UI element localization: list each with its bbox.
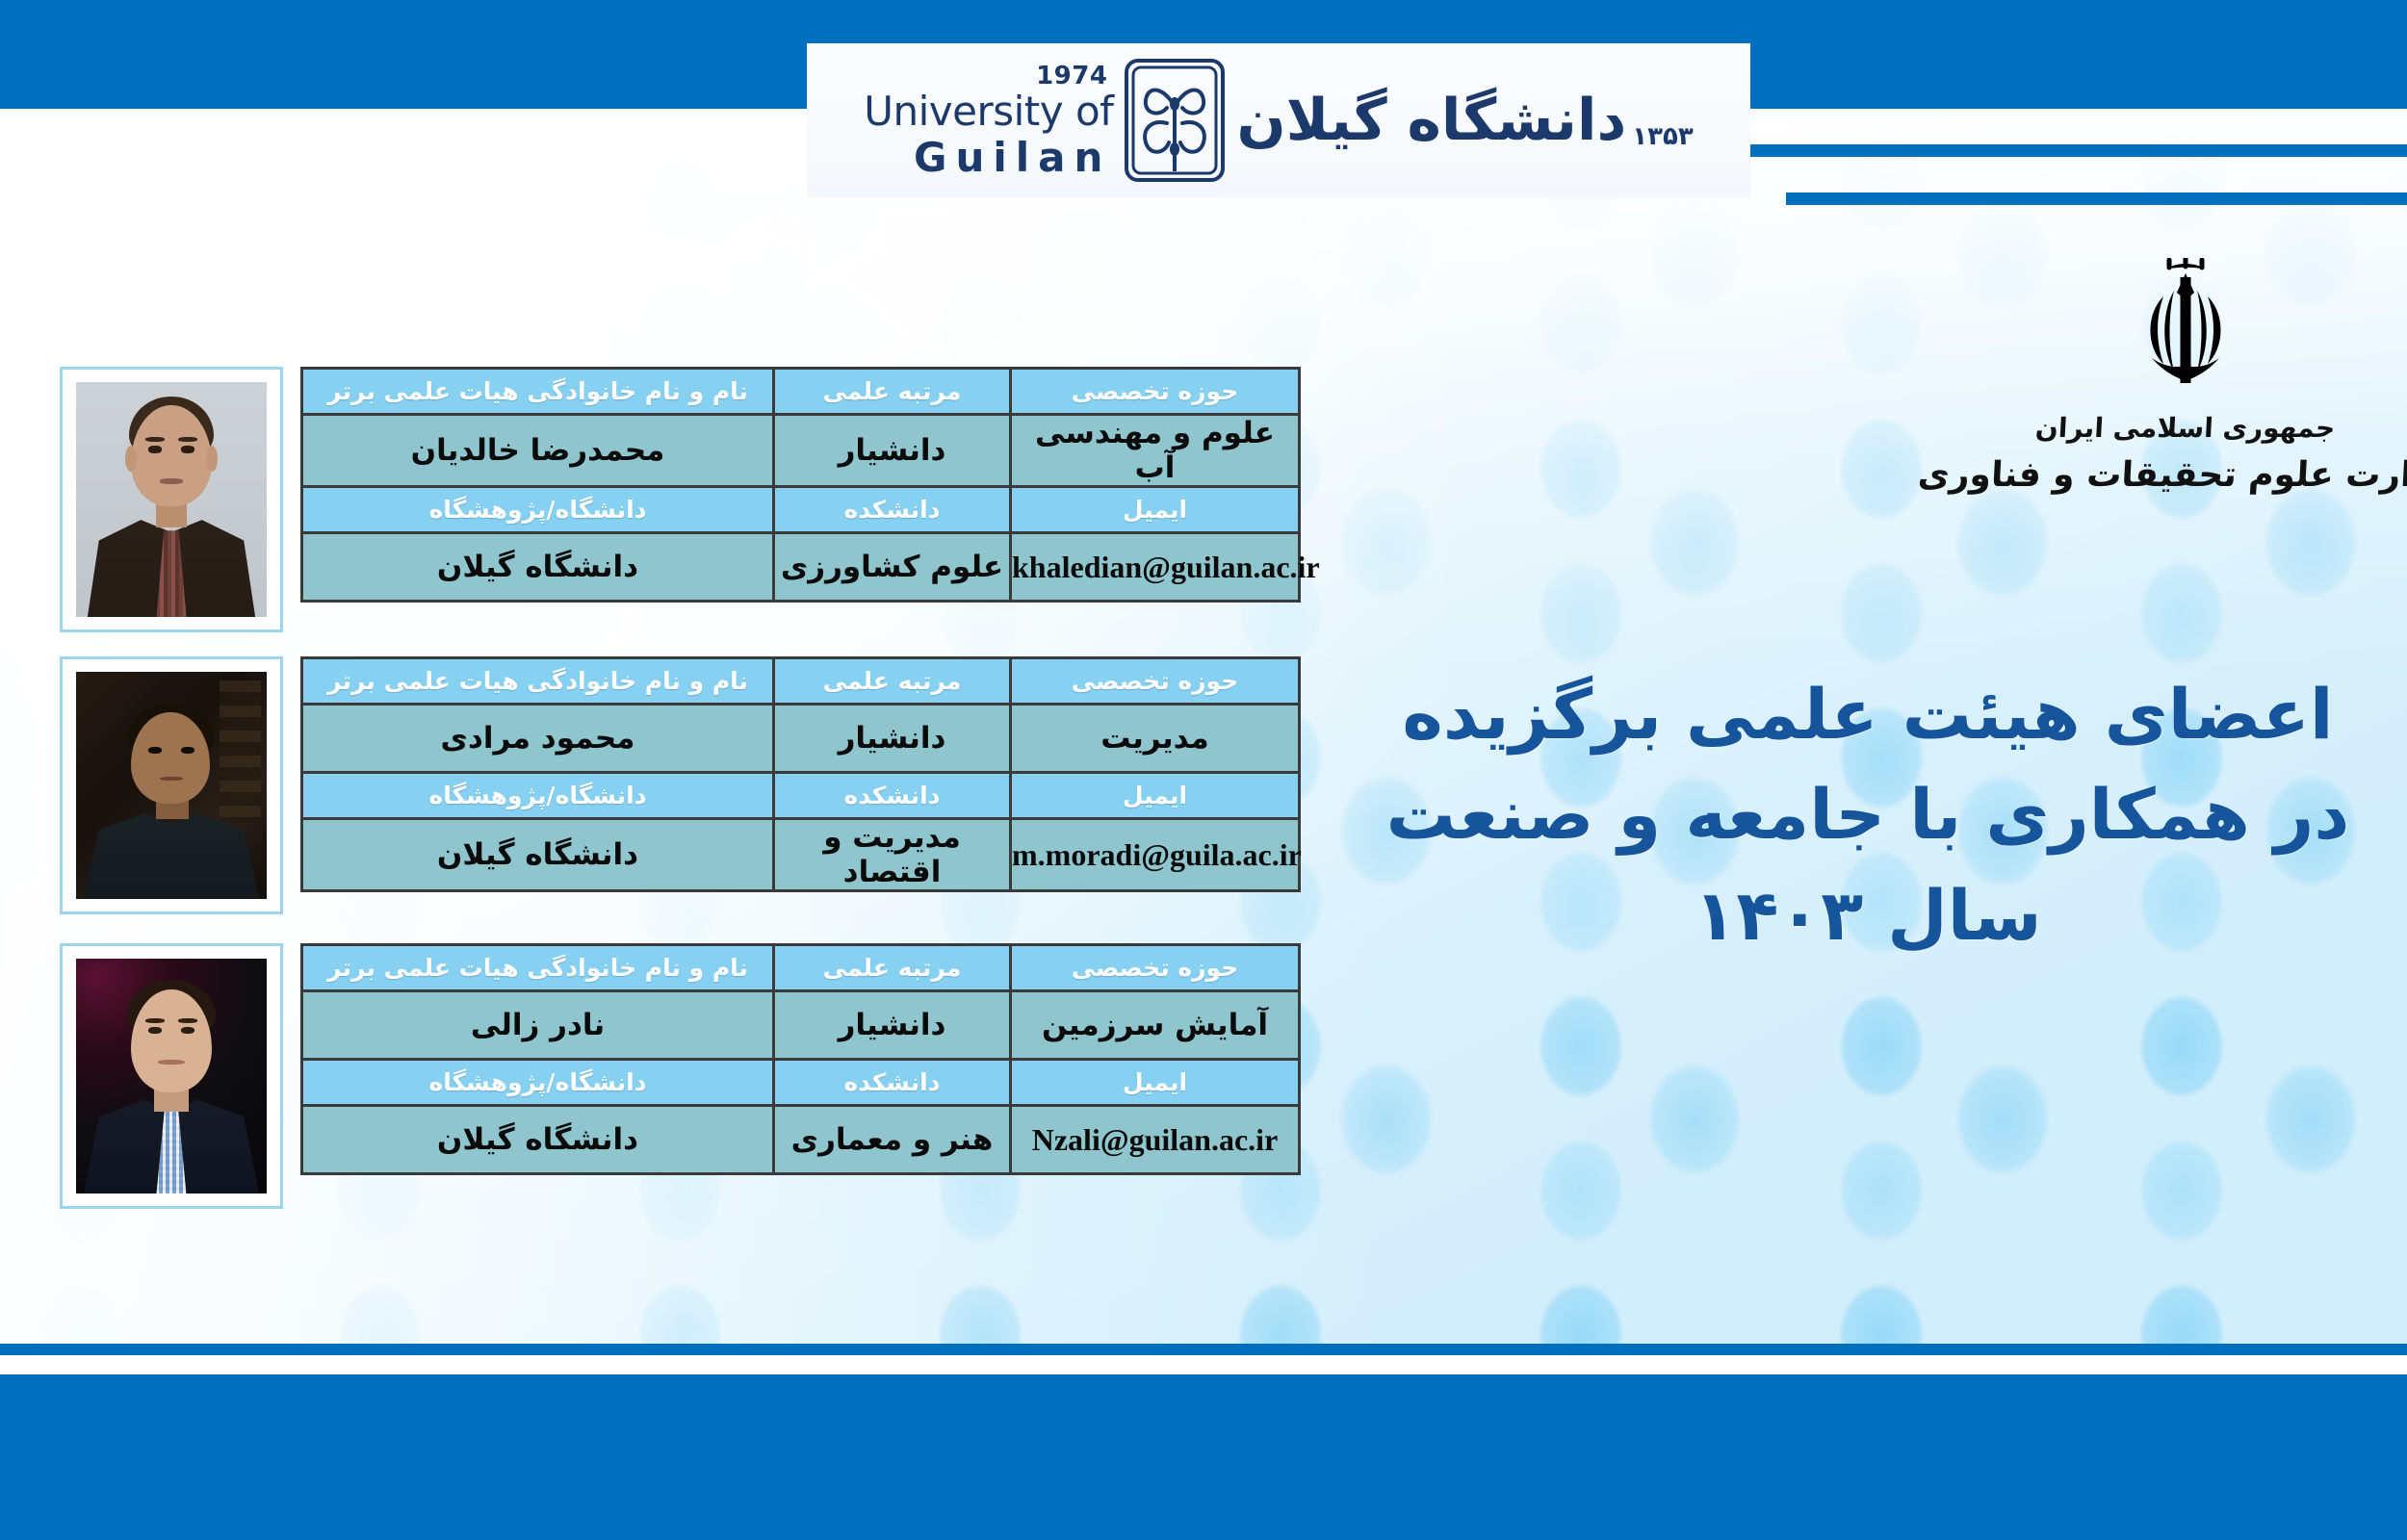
value-name: نادر زالی	[302, 991, 774, 1060]
main-title: اعضای هیئت علمی برگزیده در همکاری با جام…	[1377, 664, 2359, 965]
main-title-line-3: سال ۱۴۰۳	[1377, 865, 2359, 965]
portrait-mohammadreza-khaledian	[76, 382, 267, 617]
accent-rule-1	[1750, 96, 2407, 109]
person-photo-frame-2	[60, 656, 283, 914]
main-title-line-2: در همکاری با جامعه و صنعت	[1377, 764, 2359, 864]
header-name: نام و نام خانوادگی هیات علمی برتر	[302, 658, 774, 705]
value-university: دانشگاه گیلان	[302, 819, 774, 891]
ministry-emblem-block: جمهوری اسلامی ایران وزارت علوم تحقیقات و…	[1983, 258, 2388, 499]
logo-persian-text: دانشگاه گیلان ۱۳۵۳	[1236, 90, 1693, 151]
table-row: ایمیل دانشکده دانشگاه/پژوهشگاه	[302, 1060, 1300, 1106]
logo-name-persian: دانشگاه گیلان	[1236, 91, 1626, 149]
iran-national-emblem-icon	[2113, 258, 2258, 402]
value-name: محمود مرادی	[302, 705, 774, 773]
university-logo-plate: 1974 University of Guilan دان	[807, 43, 1750, 197]
person-info-table-3: حوزه تخصصی مرتبه علمی نام و نام خانوادگی…	[300, 943, 1301, 1175]
table-row: حوزه تخصصی مرتبه علمی نام و نام خانوادگی…	[302, 369, 1300, 415]
person-photo-frame-3	[60, 943, 283, 1209]
table-row: علوم و مهندسی آب دانشیار محمدرضا خالدیان	[302, 415, 1300, 487]
header-field: حوزه تخصصی	[1011, 658, 1300, 705]
header-email: ایمیل	[1011, 1060, 1300, 1106]
header-university: دانشگاه/پژوهشگاه	[302, 487, 774, 533]
value-rank: دانشیار	[774, 991, 1011, 1060]
logo-founding-year: 1974	[1036, 64, 1107, 89]
value-university: دانشگاه گیلان	[302, 1106, 774, 1174]
ministry-line1: جمهوری اسلامی ایران	[2034, 412, 2336, 444]
table-row: m.moradi@guila.ac.ir مدیریت و اقتصاد دان…	[302, 819, 1300, 891]
table-row: آمایش سرزمین دانشیار نادر زالی	[302, 991, 1300, 1060]
header-field: حوزه تخصصی	[1011, 945, 1300, 991]
accent-rule-2	[1750, 144, 2407, 157]
guilan-butterfly-mark-icon	[1123, 58, 1227, 183]
header-university: دانشگاه/پژوهشگاه	[302, 773, 774, 819]
header-email: ایمیل	[1011, 487, 1300, 533]
portrait-nader-zali	[76, 959, 267, 1193]
value-field: مدیریت	[1011, 705, 1300, 773]
person-photo-frame-1	[60, 367, 283, 632]
header-faculty: دانشکده	[774, 487, 1011, 533]
logo-year-persian: ۱۳۵۳	[1632, 122, 1693, 151]
value-email[interactable]: khaledian@guilan.ac.ir	[1011, 533, 1300, 602]
logo-guilan-word: Guilan	[914, 138, 1111, 178]
accent-rule-3	[1786, 192, 2407, 205]
value-faculty: مدیریت و اقتصاد	[774, 819, 1011, 891]
portrait-mahmoud-moradi	[76, 672, 267, 899]
bottom-thin-blue-bar	[0, 1344, 2407, 1355]
value-email[interactable]: Nzali@guilan.ac.ir	[1011, 1106, 1300, 1174]
person-block-1: حوزه تخصصی مرتبه علمی نام و نام خانوادگی…	[60, 367, 1301, 632]
value-faculty: هنر و معماری	[774, 1106, 1011, 1174]
main-title-line-1: اعضای هیئت علمی برگزیده	[1377, 664, 2359, 764]
value-rank: دانشیار	[774, 705, 1011, 773]
value-university: دانشگاه گیلان	[302, 533, 774, 602]
value-field: علوم و مهندسی آب	[1011, 415, 1300, 487]
table-row: ایمیل دانشکده دانشگاه/پژوهشگاه	[302, 773, 1300, 819]
ministry-line2: وزارت علوم تحقیقات و فناوری	[1917, 455, 2407, 495]
header-rank: مرتبه علمی	[774, 369, 1011, 415]
header-university: دانشگاه/پژوهشگاه	[302, 1060, 774, 1106]
value-rank: دانشیار	[774, 415, 1011, 487]
table-row: مدیریت دانشیار محمود مرادی	[302, 705, 1300, 773]
person-block-2: حوزه تخصصی مرتبه علمی نام و نام خانوادگی…	[60, 656, 1301, 914]
person-info-table-2: حوزه تخصصی مرتبه علمی نام و نام خانوادگی…	[300, 656, 1301, 892]
header-rank: مرتبه علمی	[774, 945, 1011, 991]
header-email: ایمیل	[1011, 773, 1300, 819]
table-row: حوزه تخصصی مرتبه علمی نام و نام خانوادگی…	[302, 945, 1300, 991]
table-row: khaledian@guilan.ac.ir علوم کشاورزی دانش…	[302, 533, 1300, 602]
value-field: آمایش سرزمین	[1011, 991, 1300, 1060]
bottom-blue-bar	[0, 1374, 2407, 1540]
header-faculty: دانشکده	[774, 1060, 1011, 1106]
header-rank: مرتبه علمی	[774, 658, 1011, 705]
header-name: نام و نام خانوادگی هیات علمی برتر	[302, 945, 774, 991]
logo-english-text: 1974 University of Guilan	[864, 64, 1113, 178]
table-row: ایمیل دانشکده دانشگاه/پژوهشگاه	[302, 487, 1300, 533]
person-info-table-1: حوزه تخصصی مرتبه علمی نام و نام خانوادگی…	[300, 367, 1301, 603]
poster-canvas: 1974 University of Guilan دان	[0, 0, 2407, 1540]
value-email[interactable]: m.moradi@guila.ac.ir	[1011, 819, 1300, 891]
logo-university-word: University of	[864, 91, 1113, 132]
header-field: حوزه تخصصی	[1011, 369, 1300, 415]
table-row: حوزه تخصصی مرتبه علمی نام و نام خانوادگی…	[302, 658, 1300, 705]
header-name: نام و نام خانوادگی هیات علمی برتر	[302, 369, 774, 415]
value-name: محمدرضا خالدیان	[302, 415, 774, 487]
person-block-3: حوزه تخصصی مرتبه علمی نام و نام خانوادگی…	[60, 943, 1301, 1209]
table-row: Nzali@guilan.ac.ir هنر و معماری دانشگاه …	[302, 1106, 1300, 1174]
value-faculty: علوم کشاورزی	[774, 533, 1011, 602]
header-faculty: دانشکده	[774, 773, 1011, 819]
